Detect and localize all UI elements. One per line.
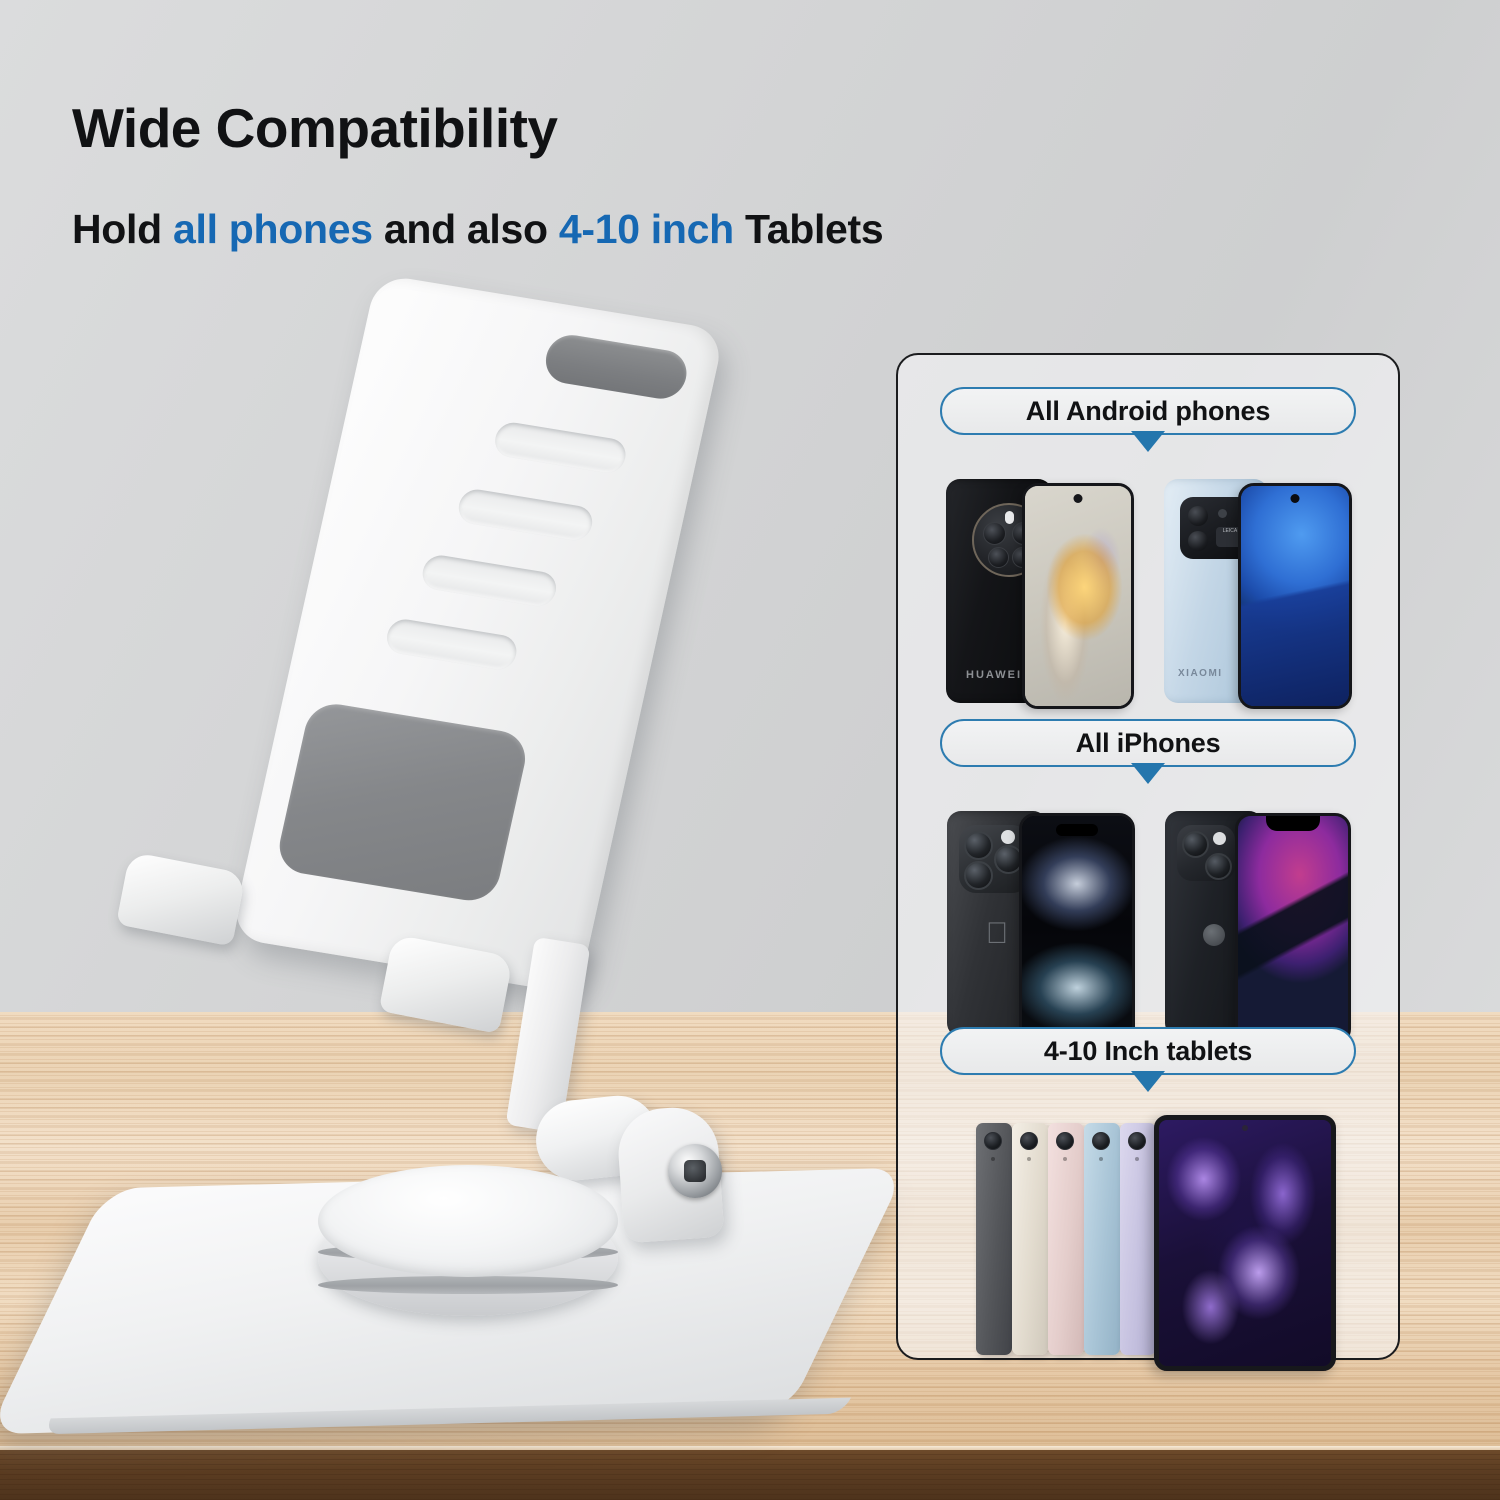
stand-top-silicone-pad: [541, 331, 691, 402]
notch: [1266, 816, 1320, 831]
iphone13-wallpaper: [1238, 816, 1348, 1042]
iphone13-front-screen: [1235, 813, 1351, 1045]
badge-all-iphones: All iPhones: [940, 719, 1356, 767]
device-iphone-13: [1165, 811, 1349, 1039]
stand-vent-slot: [492, 420, 628, 475]
badge-tablets: 4-10 Inch tablets: [940, 1027, 1356, 1075]
huawei-brand-label: HUAWEI: [966, 669, 1022, 681]
camera-lens-icon: [984, 1132, 1002, 1150]
flash-icon: [1001, 830, 1015, 844]
flash-icon: [1005, 511, 1014, 524]
stand-left-support-lip: [116, 851, 246, 946]
ipad-lineup: [958, 1115, 1338, 1361]
huawei-front-screen: [1022, 483, 1134, 709]
ipad-wallpaper: [1159, 1120, 1331, 1366]
microphone-icon: [1099, 1157, 1103, 1161]
iphone14-wallpaper: [1022, 816, 1132, 1042]
section-iphones: All iPhones : [898, 719, 1398, 1039]
iphone-device-row: : [898, 811, 1398, 1039]
camera-lens-icon: [1188, 531, 1208, 551]
device-xiaomi-13: LEICA XIAOMI: [1164, 479, 1350, 703]
flash-icon: [1213, 832, 1226, 845]
iphone13-camera-module: [1177, 825, 1235, 881]
ipad-back-space-grey: [976, 1123, 1012, 1355]
microphone-icon: [1135, 1157, 1139, 1161]
ipad-back-blue: [1084, 1123, 1120, 1355]
camera-lens-icon: [1128, 1132, 1146, 1150]
stand-hinge-screw: [668, 1144, 722, 1198]
camera-lens-icon: [1092, 1132, 1110, 1150]
ipad-back-starlight: [1012, 1123, 1048, 1355]
section-tablets: 4-10 Inch tablets: [898, 1027, 1398, 1361]
camera-lens-icon: [1182, 831, 1209, 858]
xiaomi-brand-label: XIAOMI: [1178, 668, 1223, 679]
stand-vent-slot: [456, 487, 596, 542]
camera-lens-icon: [1218, 509, 1227, 518]
microphone-icon: [1063, 1157, 1067, 1161]
rotating-disc-ring: [318, 1276, 618, 1294]
camera-lens-icon: [1188, 506, 1208, 526]
device-huawei-mate: HUAWEI: [946, 479, 1132, 703]
android-device-row: HUAWEI LEICA X: [898, 479, 1398, 703]
camera-lens-icon: [964, 831, 993, 860]
camera-lens-icon: [1205, 853, 1232, 880]
phone-stand-product: [0, 0, 900, 1500]
badge-label: 4-10 Inch tablets: [1044, 1036, 1252, 1067]
stand-backplate: [230, 274, 725, 995]
stand-bottom-silicone-pad: [274, 700, 531, 905]
dynamic-island: [1056, 824, 1098, 836]
badge-label: All Android phones: [1026, 396, 1270, 427]
camera-lens-icon: [988, 547, 1009, 568]
camera-lens-icon: [1056, 1132, 1074, 1150]
compatibility-panel: All Android phones HUAWEI: [896, 353, 1400, 1360]
chevron-down-icon: [1131, 1071, 1165, 1092]
chevron-down-icon: [1131, 763, 1165, 784]
stand-vent-slot: [420, 553, 560, 608]
iphone14-front-screen: [1019, 813, 1135, 1045]
front-camera-icon: [1074, 494, 1083, 503]
huawei-wallpaper: [1025, 486, 1131, 706]
stand-vent-slot: [384, 617, 520, 672]
front-camera-icon: [1291, 494, 1300, 503]
microphone-icon: [1027, 1157, 1031, 1161]
section-android: All Android phones HUAWEI: [898, 387, 1398, 703]
apple-logo-icon: : [986, 919, 1009, 949]
ipad-back-pink: [1048, 1123, 1084, 1355]
ipad-front-screen: [1154, 1115, 1336, 1371]
front-camera-icon: [1242, 1125, 1248, 1131]
rotating-disc-top: [318, 1165, 618, 1277]
chevron-down-icon: [1131, 431, 1165, 452]
camera-lens-icon: [1020, 1132, 1038, 1150]
device-iphone-14-pro: : [947, 811, 1133, 1039]
ipad-back-purple: [1120, 1123, 1156, 1355]
xiaomi-wallpaper: [1241, 486, 1349, 706]
product-infographic: Wide Compatibility Hold all phones and a…: [0, 0, 1500, 1500]
apple-logo-icon: [1203, 924, 1225, 946]
badge-all-android-phones: All Android phones: [940, 387, 1356, 435]
camera-lens-icon: [983, 522, 1006, 545]
microphone-icon: [991, 1157, 995, 1161]
camera-lens-icon: [964, 861, 993, 890]
xiaomi-front-screen: [1238, 483, 1352, 709]
badge-label: All iPhones: [1076, 728, 1221, 759]
